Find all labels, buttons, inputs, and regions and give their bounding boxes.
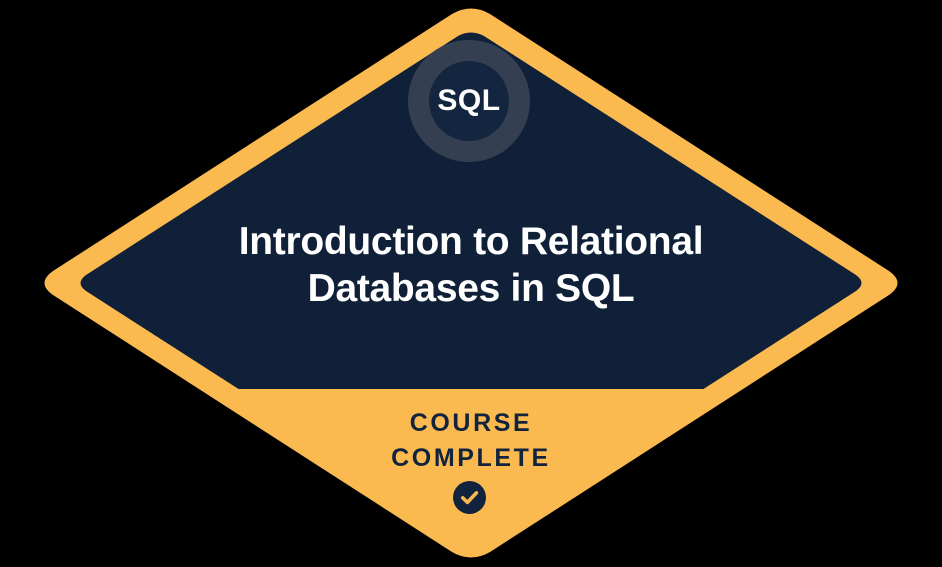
completion-line-1: COURSE <box>221 406 721 441</box>
sql-medallion: SQL <box>408 40 530 162</box>
completion-status: COURSE COMPLETE <box>221 406 721 476</box>
completion-line-2: COMPLETE <box>221 441 721 476</box>
badge-content: SQL Introduction to Relational Databases… <box>0 0 942 567</box>
course-title: Introduction to Relational Databases in … <box>121 218 821 312</box>
course-title-line-1: Introduction to Relational <box>121 218 821 265</box>
course-title-line-2: Databases in SQL <box>121 265 821 312</box>
technology-tag-label: SQL <box>408 40 530 162</box>
check-circle-icon <box>453 481 486 514</box>
course-completion-badge: SQL Introduction to Relational Databases… <box>0 0 942 567</box>
completion-status-text: COURSE COMPLETE <box>221 406 721 476</box>
